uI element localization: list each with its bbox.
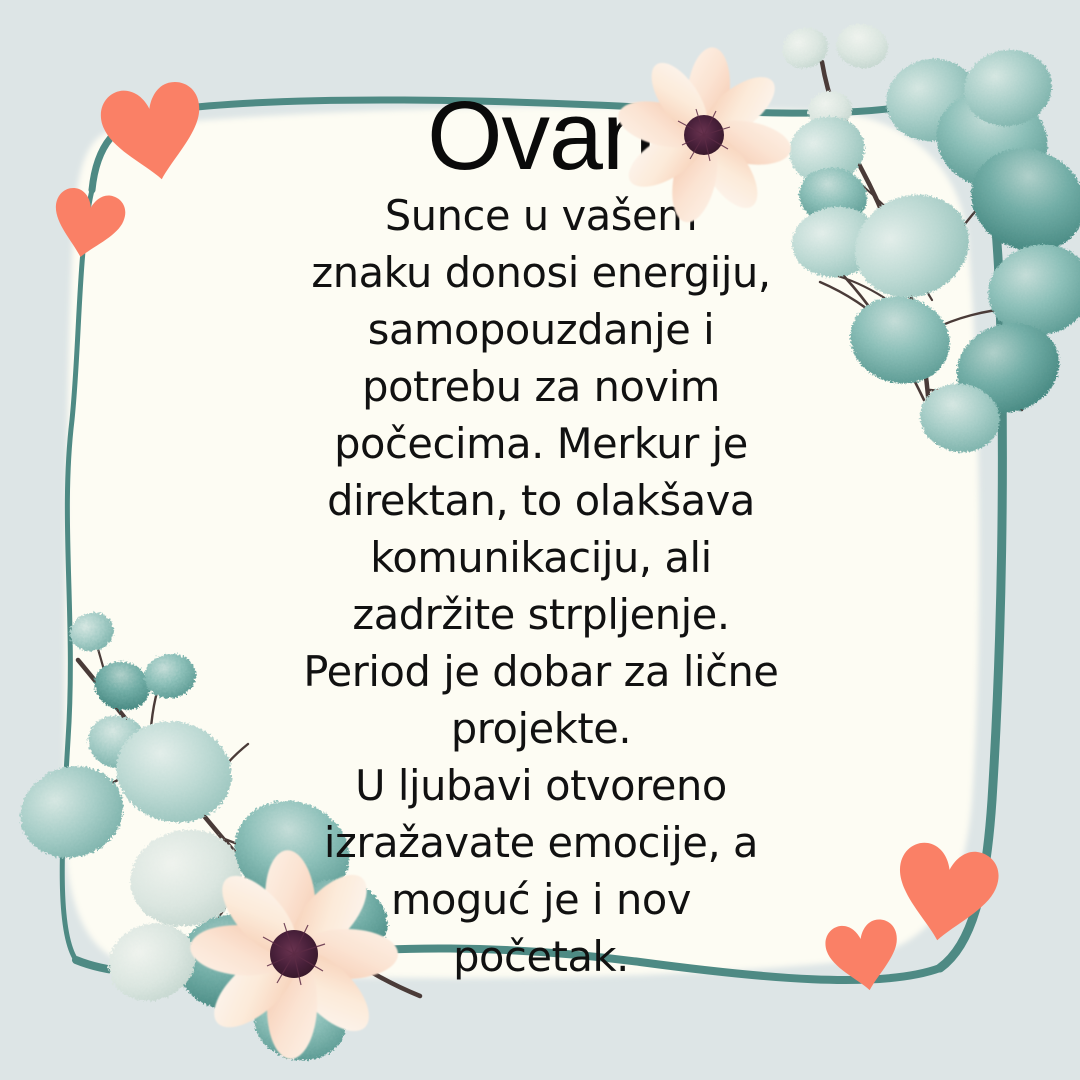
horoscope-card: Ovan Sunce u vašemznaku donosi energiju,…: [0, 0, 1080, 1080]
heart-decorations: [0, 0, 1080, 1080]
heart-top-left-small: [46, 185, 128, 264]
heart-bottom-right-small: [823, 917, 906, 997]
heart-top-left-large: [97, 78, 211, 188]
heart-bottom-right-large: [889, 839, 1003, 949]
